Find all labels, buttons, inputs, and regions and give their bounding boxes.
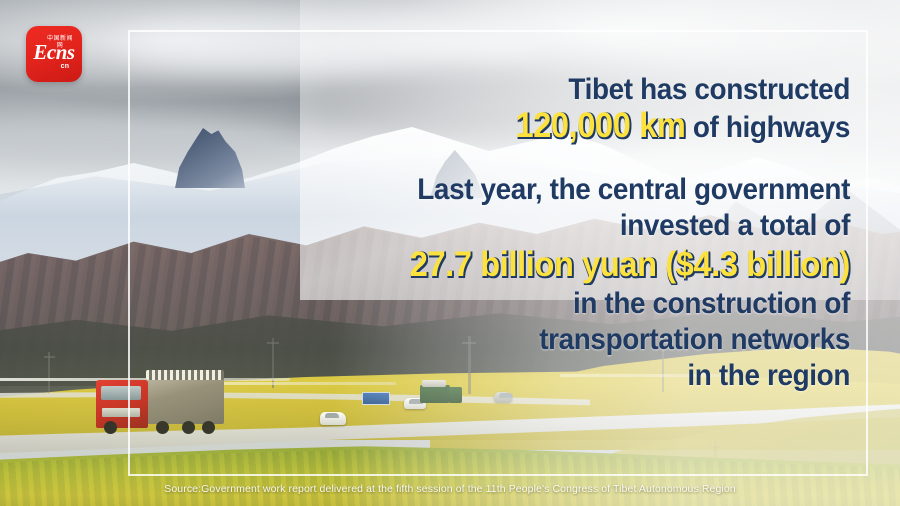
headline-line-3: Last year, the central government: [329, 172, 850, 208]
red-truck: [96, 372, 224, 434]
headline-copy: Tibet has constructed 120,000 km of high…: [290, 72, 850, 394]
headline-line-2: 120,000 km of highways: [329, 108, 850, 146]
ecns-logo[interactable]: 中国新闻网 Ecns cn: [26, 26, 82, 82]
headline-line-7: transportation networks: [329, 322, 850, 358]
truck-wheel: [104, 421, 117, 434]
pylon-crossarm: [44, 356, 55, 358]
logo-domain-suffix: cn: [53, 63, 77, 71]
headline-line-2-suffix: of highways: [693, 111, 850, 144]
truck-wheel: [202, 421, 215, 434]
truck-windshield: [101, 386, 141, 400]
logo-wordmark: Ecns: [31, 41, 77, 64]
headline-line-5: 27.7 billion yuan ($4.3 billion): [329, 244, 850, 286]
headline-line-4: invested a total of: [329, 208, 850, 244]
infographic-poster: 中国新闻网 Ecns cn Tibet has constructed 120,…: [0, 0, 900, 506]
headline-block-1: Tibet has constructed 120,000 km of high…: [290, 72, 850, 146]
power-pylon: [48, 352, 50, 394]
headline-line-1-text: Tibet has constructed: [568, 73, 850, 106]
truck-cargo: [146, 374, 224, 424]
cloud-band: [120, 18, 540, 70]
truck-wheel: [156, 421, 169, 434]
truck-wheel: [182, 421, 195, 434]
truck-cargo-cover: [146, 370, 224, 380]
highlight-number-distance: 120,000 km: [515, 106, 685, 145]
headline-line-6: in the construction of: [329, 286, 850, 322]
headline-line-8: in the region: [329, 358, 850, 394]
headline-block-2: Last year, the central government invest…: [290, 172, 850, 394]
logo-inner: 中国新闻网 Ecns cn: [31, 34, 77, 74]
pylon-crossarm: [267, 342, 279, 344]
source-attribution: Source:Government work report delivered …: [0, 483, 900, 495]
white-car: [320, 412, 346, 425]
headline-line-1: Tibet has constructed: [329, 72, 850, 108]
truck-grille: [102, 408, 140, 417]
highlight-number-investment: 27.7 billion yuan ($4.3 billion): [410, 245, 850, 284]
